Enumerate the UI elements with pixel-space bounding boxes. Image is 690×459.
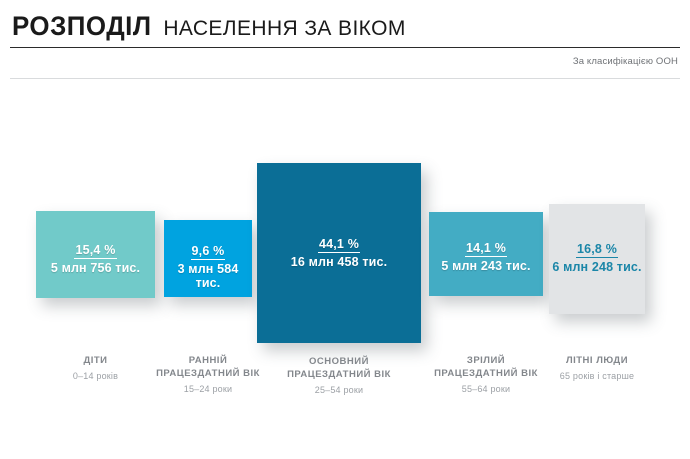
bar-percent-elderly: 16,8 %	[576, 242, 618, 258]
bar-label-name1-mature-working-age: ЗРІЛИЙ	[426, 355, 546, 368]
bar-absolute-mature-working-age: 5 млн 243 тис.	[429, 259, 543, 273]
bar-absolute-elderly: 6 млн 248 тис.	[549, 260, 645, 274]
bar-label-elderly: ЛІТНІ ЛЮДИ 65 років і старше	[537, 355, 657, 381]
bar-group-mature-working-age: 14,1 % 5 млн 243 тис.	[429, 212, 543, 296]
bar-percent-mature-working-age: 14,1 %	[465, 241, 507, 257]
bar-label-name2-mature-working-age: ПРАЦЕЗДАТНИЙ ВІК	[426, 368, 546, 381]
bar-value-children: 15,4 % 5 млн 756 тис.	[36, 241, 155, 275]
bar-value-main-working-age: 44,1 % 16 млн 458 тис.	[257, 235, 421, 269]
age-distribution-bar-chart: 15,4 % 5 млн 756 тис. ДІТИ 0–14 років 9,…	[0, 0, 690, 459]
bar-percent-main-working-age: 44,1 %	[318, 237, 360, 253]
bar-absolute-children: 5 млн 756 тис.	[36, 261, 155, 275]
bar-label-mature-working-age: ЗРІЛИЙ ПРАЦЕЗДАТНИЙ ВІК 55–64 роки	[426, 355, 546, 394]
bar-label-name2-main-working-age: ПРАЦЕЗДАТНИЙ ВІК	[279, 369, 399, 382]
bar-group-early-working-age: 9,6 % 3 млн 584 тис.	[164, 220, 252, 297]
bar-label-range-early-working-age: 15–24 роки	[148, 384, 268, 394]
bar-label-range-mature-working-age: 55–64 роки	[426, 384, 546, 394]
bar-absolute-main-working-age: 16 млн 458 тис.	[257, 255, 421, 269]
bar-group-elderly: 16,8 % 6 млн 248 тис.	[549, 204, 645, 314]
bar-label-range-main-working-age: 25–54 роки	[279, 385, 399, 395]
bar-label-range-elderly: 65 років і старше	[537, 371, 657, 381]
bar-percent-early-working-age: 9,6 %	[191, 244, 226, 260]
bar-group-main-working-age: 44,1 % 16 млн 458 тис.	[257, 163, 421, 343]
bar-percent-children: 15,4 %	[74, 243, 116, 259]
bar-label-name1-early-working-age: РАННІЙ	[148, 355, 268, 368]
bar-label-early-working-age: РАННІЙ ПРАЦЕЗДАТНИЙ ВІК 15–24 роки	[148, 355, 268, 394]
bar-label-children: ДІТИ 0–14 років	[26, 355, 165, 381]
bar-value-early-working-age: 9,6 % 3 млн 584 тис.	[164, 242, 252, 290]
bar-label-main-working-age: ОСНОВНИЙ ПРАЦЕЗДАТНИЙ ВІК 25–54 роки	[279, 356, 399, 395]
bar-absolute-early-working-age: 3 млн 584 тис.	[164, 262, 252, 290]
bar-label-name-children: ДІТИ	[26, 355, 165, 368]
bar-label-name-elderly: ЛІТНІ ЛЮДИ	[537, 355, 657, 368]
bar-value-elderly: 16,8 % 6 млн 248 тис.	[549, 240, 645, 274]
bar-label-range-children: 0–14 років	[26, 371, 165, 381]
bar-label-name2-early-working-age: ПРАЦЕЗДАТНИЙ ВІК	[148, 368, 268, 381]
bar-label-name1-main-working-age: ОСНОВНИЙ	[279, 356, 399, 369]
bar-group-children: 15,4 % 5 млн 756 тис.	[36, 211, 155, 298]
bar-value-mature-working-age: 14,1 % 5 млн 243 тис.	[429, 239, 543, 273]
